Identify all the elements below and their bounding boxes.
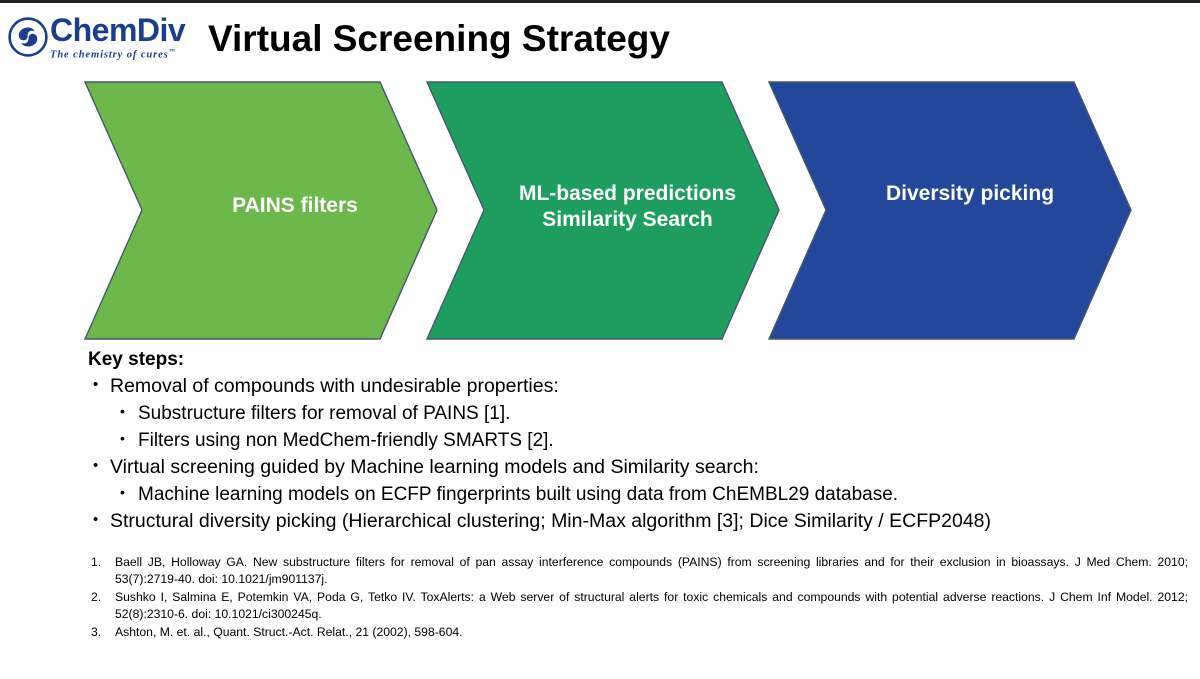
- key-step-bullet: Structural diversity picking (Hierarchic…: [88, 508, 1188, 535]
- reference-number: 3.: [91, 624, 111, 641]
- key-step-sublist: Substructure filters for removal of PAIN…: [88, 400, 1188, 454]
- reference-text: Sushko I, Salmina E, Potemkin VA, Poda G…: [115, 590, 1188, 621]
- chemdiv-logo-text: ChemDiv The chemistry of cures™: [50, 13, 196, 62]
- key-step-subbullet: Filters using non MedChem-friendly SMART…: [114, 427, 1188, 454]
- chevron-step-1-label: PAINS filters: [160, 193, 430, 219]
- key-step-bullet-text: Removal of compounds with undesirable pr…: [110, 375, 559, 397]
- reference-number: 2.: [91, 589, 111, 606]
- key-step-subbullet: Substructure filters for removal of PAIN…: [114, 400, 1188, 427]
- key-step-bullet: Virtual screening guided by Machine lear…: [88, 454, 1188, 481]
- chevron-step-3-label: Diversity picking: [845, 181, 1095, 207]
- reference-text: Baell JB, Holloway GA. New substructure …: [115, 555, 1188, 586]
- key-steps-list: Removal of compounds with undesirable pr…: [88, 373, 1188, 535]
- chemdiv-tagline-text: The chemistry of cures: [50, 50, 169, 61]
- reference-item: 2.Sushko I, Salmina E, Potemkin VA, Poda…: [90, 589, 1188, 623]
- key-step-bullet: Removal of compounds with undesirable pr…: [88, 373, 1188, 400]
- chemdiv-wordmark: ChemDiv: [50, 13, 196, 47]
- reference-number: 1.: [91, 554, 111, 571]
- key-steps-heading: Key steps:: [88, 348, 1188, 372]
- reference-item: 3.Ashton, M. et. al., Quant. Struct.-Act…: [90, 624, 1188, 641]
- chevron-step-3[interactable]: [769, 82, 1131, 339]
- key-steps-section: Key steps: Removal of compounds with und…: [88, 348, 1188, 535]
- reference-item: 1.Baell JB, Holloway GA. New substructur…: [90, 554, 1188, 588]
- slide-header: ChemDiv The chemistry of cures™ Virtual …: [0, 6, 1200, 74]
- references-list: 1.Baell JB, Holloway GA. New substructur…: [90, 554, 1188, 642]
- key-step-bullet-text: Virtual screening guided by Machine lear…: [110, 456, 759, 478]
- chevron-step-2-label: ML-based predictions Similarity Search: [475, 181, 780, 232]
- chemdiv-logo[interactable]: ChemDiv The chemistry of cures™: [8, 13, 196, 63]
- reference-text: Ashton, M. et. al., Quant. Struct.-Act. …: [115, 625, 463, 639]
- page-title: Virtual Screening Strategy: [208, 17, 670, 61]
- chemdiv-tagline: The chemistry of cures™: [50, 46, 196, 62]
- key-step-sublist: Machine learning models on ECFP fingerpr…: [88, 481, 1188, 508]
- key-step-bullet-text: Structural diversity picking (Hierarchic…: [110, 510, 991, 532]
- key-step-subbullet: Machine learning models on ECFP fingerpr…: [114, 481, 1188, 508]
- trademark-symbol: ™: [169, 49, 175, 55]
- slide-root: ChemDiv The chemistry of cures™ Virtual …: [0, 0, 1200, 679]
- chemdiv-swirl-logo-icon: [8, 17, 48, 57]
